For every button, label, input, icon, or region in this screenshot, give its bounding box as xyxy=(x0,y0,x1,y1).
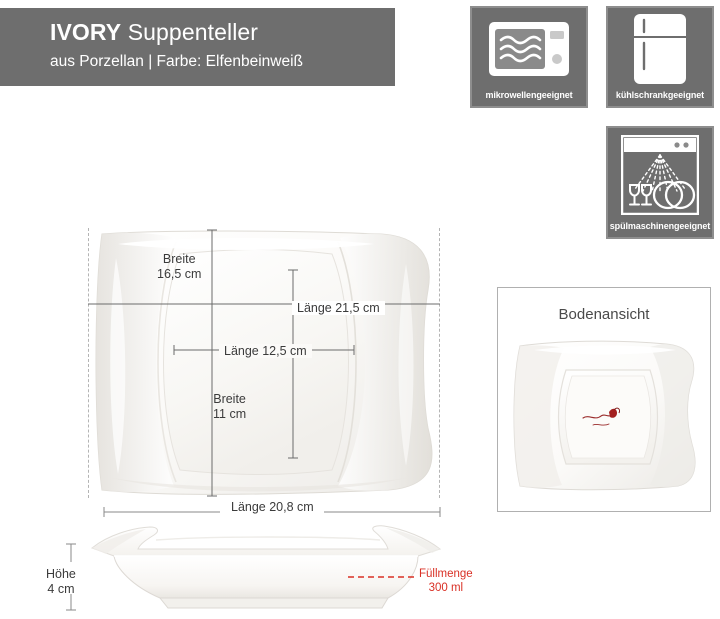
fill-volume-label: Füllmenge 300 ml xyxy=(419,568,473,595)
bottom-view-title: Bodenansicht xyxy=(498,306,710,323)
dishwasher-icon xyxy=(608,128,712,221)
badge-fridge-safe: kühlschrankgeeignet xyxy=(606,6,714,108)
title-brand: IVORY xyxy=(50,19,121,45)
dimension-label-breite-11: Breite 11 cm xyxy=(213,392,246,421)
plate-top-view-illustration xyxy=(88,228,440,498)
badge-dishwasher-safe: spülmaschinengeeignet xyxy=(606,126,714,239)
plate-top-view-area xyxy=(88,228,440,498)
header-banner: IVORY Suppenteller aus Porzellan | Farbe… xyxy=(0,8,395,86)
badge-microwave-safe: mikrowellengeeignet xyxy=(470,6,588,108)
dimension-label-laenge-21-5: Länge 21,5 cm xyxy=(292,301,385,316)
bottom-view-panel: Bodenansicht xyxy=(497,287,711,512)
page-title: IVORY Suppenteller xyxy=(50,18,395,47)
badge-fridge-label: kühlschrankgeeignet xyxy=(616,90,704,106)
title-product: Suppenteller xyxy=(121,19,258,45)
plate-side-view-area xyxy=(88,522,448,614)
dimension-label-laenge-20-8: Länge 20,8 cm xyxy=(231,500,314,515)
plate-side-view-illustration xyxy=(88,522,448,614)
dimension-label-laenge-12-5: Länge 12,5 cm xyxy=(219,344,312,359)
badge-dishwasher-label: spülmaschinengeeignet xyxy=(610,221,710,237)
infographic-canvas: IVORY Suppenteller aus Porzellan | Farbe… xyxy=(0,0,720,618)
bottom-view-plate-illustration xyxy=(510,336,700,496)
page-subtitle: aus Porzellan | Farbe: Elfenbeinweiß xyxy=(50,51,395,73)
fill-level-line xyxy=(348,572,420,582)
refrigerator-icon xyxy=(608,8,712,90)
badge-microwave-label: mikrowellengeeignet xyxy=(485,90,572,106)
microwave-icon xyxy=(472,8,586,90)
dimension-label-breite-16-5: Breite 16,5 cm xyxy=(157,252,201,281)
dimension-label-hoehe: Höhe 4 cm xyxy=(46,567,76,596)
